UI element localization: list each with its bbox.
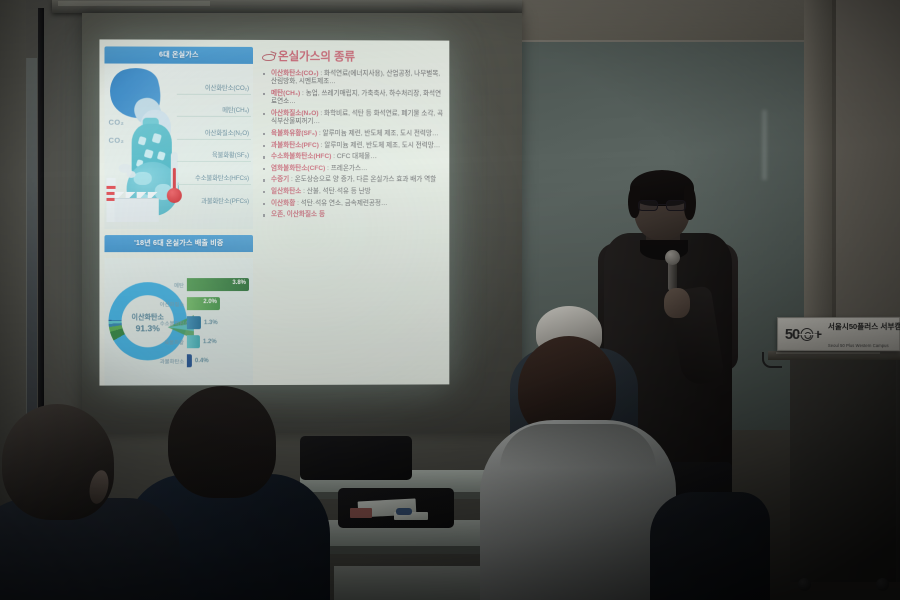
bar-fill: 3.8% — [187, 278, 249, 291]
bullet-item: 수증기 : 온도상승으로 양 증가, 다른 온실가스 효과 배가 역할 — [262, 176, 443, 185]
bar-value: 1.3% — [204, 320, 218, 326]
gas-list-item: 이산화탄소(CO₂) — [177, 72, 251, 95]
gas-name: 과불화탄소(PFCs) — [201, 196, 249, 205]
gas-list-item: 수소불화탄소(HFCs) — [177, 162, 251, 185]
pen — [396, 508, 412, 515]
bar-value: 3.8% — [232, 280, 246, 286]
hoodie-hood-shadow — [500, 424, 656, 468]
presenter-hand — [664, 288, 690, 318]
gas-name: 이산화탄소(CO₂) — [205, 82, 249, 91]
gas-name: 메탄(CH₄) — [222, 105, 249, 114]
bullet-term: 이산화탄소(CO₂) — [271, 70, 318, 77]
bar-row: 아산화질소 2.0% — [160, 295, 249, 312]
gas-list-item: 아산화질소(N₂O) — [177, 117, 251, 140]
logo-number: 50 — [785, 326, 799, 343]
bullet-item: 이산화황 : 석탄·석유 연소, 금속제련공정… — [262, 200, 443, 208]
fifty-plus-logo: 50 + — [785, 326, 822, 343]
slide-left-column: 6대 온실가스 — [99, 39, 258, 385]
bullet-item: 과불화탄소(PFC) : 알루미늄 제련, 반도체 제조, 도시 전력망… — [262, 142, 443, 151]
bar-row: 육불화황 1.2% — [160, 333, 249, 350]
campus-name-english: Seoul 50 Plus Western Campus — [828, 343, 889, 348]
bar-label: 과불화탄소 — [160, 357, 187, 365]
bullet-term: 수소화불화탄소(HFC) — [271, 153, 331, 160]
bullet-term: 아산화질소(N₂O) — [271, 110, 318, 117]
pointing-hand-icon — [262, 51, 275, 60]
emission-share-header: '18년 6대 온실가스 배출 비중 — [104, 235, 253, 252]
bullet-term: 수증기 — [271, 176, 289, 183]
lectern-caster — [798, 578, 811, 591]
bullet-term: 메탄(CH₄) — [271, 90, 300, 97]
gas-name: 수소불화탄소(HFCs) — [195, 172, 249, 181]
gas-name: 육불화황(SF₆) — [212, 150, 249, 159]
co2-label-2: CO₂ — [109, 136, 125, 145]
bar-fill — [187, 335, 200, 348]
bullet-item: 메탄(CH₄) : 농업, 쓰레기매립지, 가축축사, 하수처리장, 화석연료연… — [262, 90, 443, 107]
bullet-item: 일산화탄소 : 산불, 석탄·석유 등 난방 — [262, 188, 443, 196]
bullet-desc: : 온도상승으로 양 증가, 다른 온실가스 효과 배가 역할 — [289, 176, 436, 183]
glasses-bridge — [658, 204, 666, 205]
bar-row: 메탄 3.8% — [160, 276, 249, 293]
bar-fill — [187, 316, 201, 329]
bullet-item: 육불화유황(SF₆) : 알루미늄 제련, 반도체 제조, 도시 전력망… — [262, 130, 443, 139]
bullet-item: 아산화질소(N₂O) : 화학비료, 석탄 등 화석연료, 폐기물 소각, 곡식… — [262, 110, 443, 127]
lecture-room-photo: 6대 온실가스 — [0, 0, 900, 600]
greenhouse-gases-panel: CO₂ CO₂ 이산화탄소(CO₂) 메탄(CH₄) 아산화질소(N₂O) 육불… — [104, 63, 253, 229]
greenhouse-gas-bullet-list: 이산화탄소(CO₂) : 화석연료(에너지사용), 산업공정, 나무벌목, 산림… — [262, 70, 443, 220]
audience-right — [650, 492, 770, 600]
chalkboard-glare — [762, 110, 767, 180]
sign-text-block: 서울시50플러스 서부캠퍼스 Seoul 50 Plus Western Cam… — [828, 315, 900, 352]
chair-back — [300, 436, 412, 480]
bar-row: 수소불화탄소 1.3% — [160, 314, 249, 331]
bullet-desc: : 알루미늄 제련, 반도체 제조, 도시 전력망… — [317, 130, 438, 137]
bullet-term: 과불화탄소(PFC) — [271, 142, 319, 149]
audience-head — [168, 386, 276, 498]
folder — [350, 508, 372, 518]
slide-right-column: 온실가스의 종류 이산화탄소(CO₂) : 화석연료(에너지사용), 산업공정,… — [258, 40, 449, 385]
bar-value: 0.4% — [195, 358, 209, 364]
lectern-body — [790, 360, 896, 582]
bullet-term: 오존, 이산화질소 등 — [271, 211, 325, 218]
smoke-puff-icon — [127, 171, 136, 178]
bullet-term: 육불화유황(SF₆) — [271, 130, 317, 137]
bullet-desc: : 석탄·석유 연소, 금속제련공정… — [295, 200, 387, 207]
bullet-desc: : 알루미늄 제련, 반도체 제조, 도시 전력망… — [319, 142, 440, 149]
bar-label: 수소불화탄소 — [160, 319, 187, 327]
bullet-item: 이산화탄소(CO₂) : 화석연료(에너지사용), 산업공정, 나무벌목, 산림… — [262, 70, 443, 87]
projected-slide: 6대 온실가스 — [99, 39, 449, 385]
target-circle-icon — [800, 328, 813, 341]
bar-row: 과불화탄소 0.4% — [160, 352, 249, 369]
bar-fill — [187, 354, 192, 367]
campus-name-korean: 서울시50플러스 서부캠퍼스 — [828, 321, 900, 330]
gas-list-item: 메탄(CH₄) — [177, 94, 251, 117]
screen-housing-highlight — [58, 1, 210, 6]
microphone-head — [665, 250, 680, 265]
bullet-item: 염화불화탄소(CFC) : 프레온가스… — [262, 165, 443, 174]
bar-label: 아산화질소 — [160, 300, 187, 308]
lectern-caster — [876, 578, 889, 591]
glasses-lens-left — [638, 200, 658, 211]
bar-value: 1.2% — [203, 339, 217, 345]
emission-bar-chart: 메탄 3.8% 아산화질소 2.0% — [160, 276, 251, 386]
bullet-term: 일산화탄소 — [271, 188, 301, 195]
bar-label: 육불화황 — [160, 338, 187, 346]
factory-icon — [107, 178, 159, 222]
bullet-desc: : CFC 대체물… — [331, 153, 377, 160]
co2-label-1: CO₂ — [109, 118, 125, 127]
campus-name-sign: 50 + 서울시50플러스 서부캠퍼스 Seoul 50 Plus Wester… — [777, 317, 900, 351]
bar-value: 2.0% — [203, 299, 217, 305]
slide-title: 온실가스의 종류 — [278, 48, 355, 64]
bullet-term: 이산화황 — [271, 200, 295, 207]
bullet-desc: : 산불, 석탄·석유 등 난방 — [301, 188, 370, 195]
bullet-item: 수소화불화탄소(HFC) : CFC 대체물… — [262, 153, 443, 162]
donut-chart: 이산화탄소 91.3% — [107, 276, 160, 380]
glasses-lens-right — [666, 200, 686, 211]
presenter-collar — [640, 240, 688, 260]
bullet-term: 염화불화탄소(CFC) — [271, 165, 325, 172]
greenhouse-gas-list: 이산화탄소(CO₂) 메탄(CH₄) 아산화질소(N₂O) 육불화황(SF₆) … — [177, 72, 251, 207]
six-greenhouse-gases-header: 6대 온실가스 — [104, 46, 253, 63]
bullet-desc: : 프레온가스… — [325, 165, 367, 172]
emission-share-chart-panel: 이산화탄소 91.3% 메탄 — [104, 258, 253, 386]
gas-list-item: 과불화탄소(PFCs) — [177, 184, 251, 207]
bar-fill: 2.0% — [187, 297, 220, 310]
gas-name: 아산화질소(N₂O) — [205, 127, 249, 136]
bullet-item: 오존, 이산화질소 등 — [262, 211, 443, 219]
slide-title-row: 온실가스의 종류 — [262, 48, 443, 65]
bar-label: 메탄 — [160, 281, 187, 289]
gas-list-item: 육불화황(SF₆) — [177, 139, 251, 162]
